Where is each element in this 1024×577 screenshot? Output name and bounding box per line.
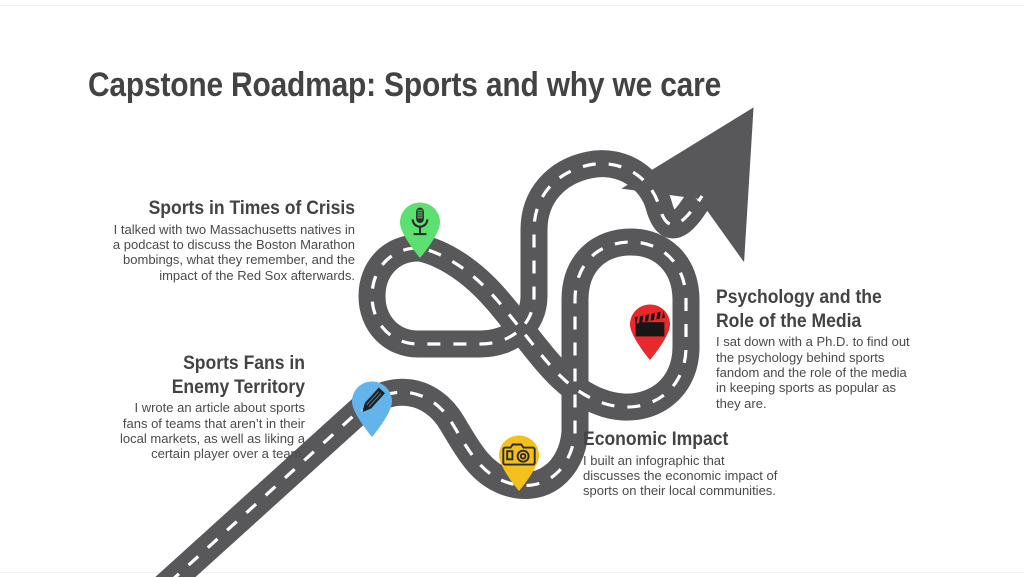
milestone-block-economic: Economic Impact I built an infographic t… [583, 428, 783, 499]
map-pin-psychology[interactable] [627, 303, 673, 361]
milestone-body-crisis: I talked with two Massachusetts natives … [110, 222, 355, 283]
milestone-block-psychology: Psychology and the Role of the Media I s… [716, 286, 916, 411]
milestone-body-fans: I wrote an article about sports fans of … [118, 400, 305, 461]
map-pin-fans[interactable] [349, 380, 395, 438]
milestone-heading-economic: Economic Impact [583, 428, 763, 452]
milestone-heading-crisis: Sports in Times of Crisis [135, 197, 356, 221]
milestone-body-economic: I built an infographic that discusses th… [583, 453, 783, 499]
milestone-block-fans: Sports Fans in Enemy Territory I wrote a… [118, 352, 305, 462]
pin-teardrop-shape [352, 382, 392, 438]
slide-canvas: Capstone Roadmap: Sports and why we care… [0, 0, 1024, 577]
map-pin-economic[interactable] [496, 434, 542, 492]
map-pin-crisis[interactable] [397, 201, 443, 259]
milestone-heading-psychology: Psychology and the Role of the Media [716, 286, 896, 333]
milestone-block-crisis: Sports in Times of Crisis I talked with … [110, 197, 355, 283]
milestone-heading-fans: Sports Fans in Enemy Territory [137, 352, 305, 399]
milestone-body-psychology: I sat down with a Ph.D. to find out the … [716, 334, 916, 411]
